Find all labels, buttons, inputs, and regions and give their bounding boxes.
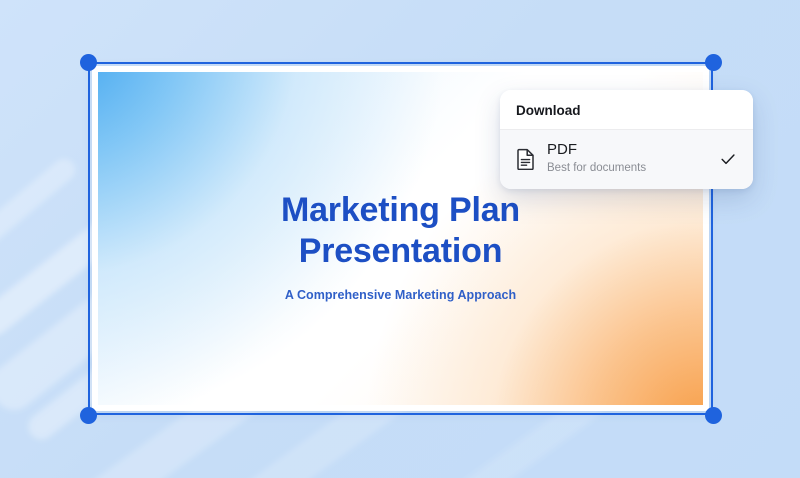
menu-item-pdf-labels: PDF Best for documents [547, 141, 702, 176]
background-stripe-decoration [0, 154, 80, 267]
slide-title-line-1: Marketing Plan [138, 190, 663, 231]
slide-text-block: Marketing Plan Presentation A Comprehens… [98, 190, 703, 302]
slide-title: Marketing Plan Presentation [98, 190, 703, 272]
resize-handle-top-right[interactable] [705, 54, 722, 71]
resize-handle-bottom-right[interactable] [705, 407, 722, 424]
slide-title-line-2: Presentation [138, 231, 663, 272]
menu-item-pdf-label: PDF [547, 141, 702, 159]
resize-handle-top-left[interactable] [80, 54, 97, 71]
download-menu-title: Download [500, 90, 753, 129]
resize-handle-bottom-left[interactable] [80, 407, 97, 424]
menu-item-pdf[interactable]: PDF Best for documents [500, 130, 753, 189]
slide-subtitle: A Comprehensive Marketing Approach [98, 288, 703, 302]
download-menu: Download PDF Best for documents [500, 90, 753, 189]
document-icon [516, 148, 536, 170]
check-icon [719, 150, 737, 168]
menu-item-pdf-description: Best for documents [547, 162, 702, 176]
editor-canvas: Marketing Plan Presentation A Comprehens… [0, 0, 800, 478]
